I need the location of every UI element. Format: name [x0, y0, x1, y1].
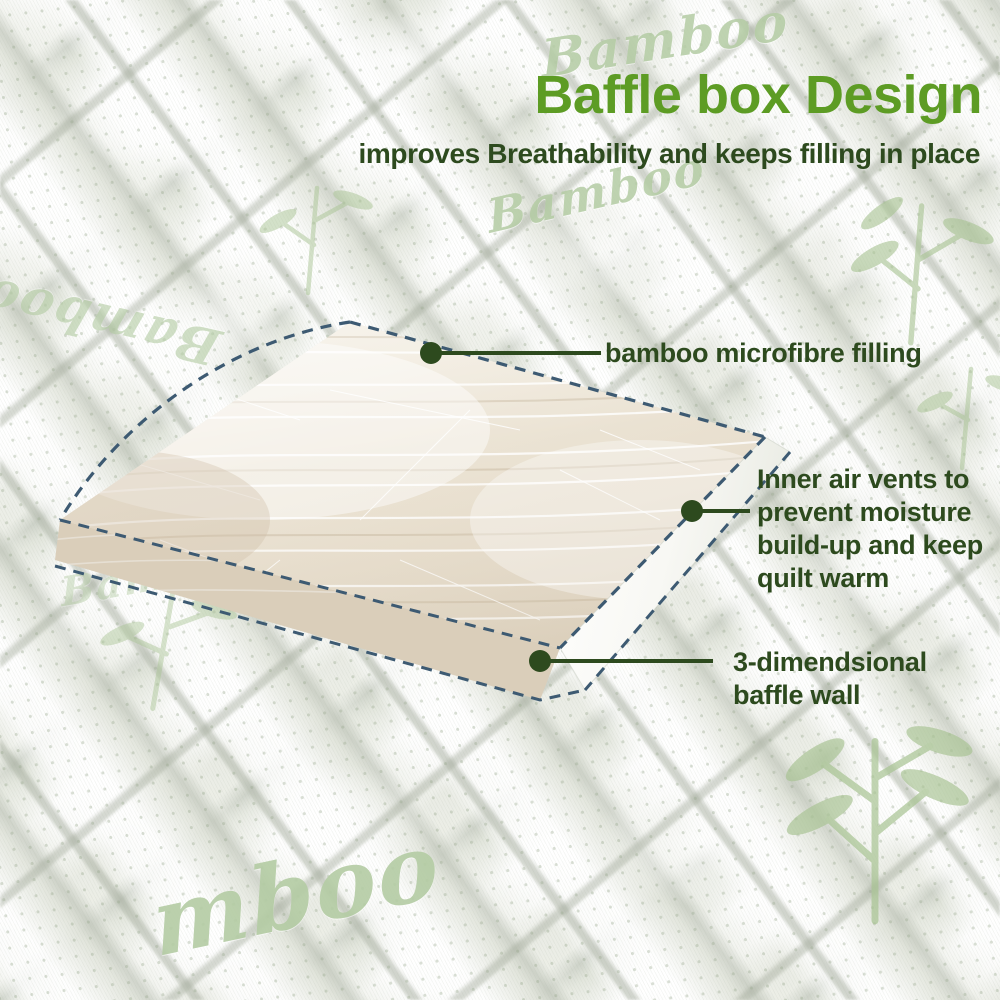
callout-label-bamboo-microfibre-filling: bamboo microfibre filling [605, 337, 922, 370]
page-title: Baffle box Design [0, 66, 982, 124]
bamboo-leaf-icon [760, 700, 990, 930]
bamboo-leaf-icon [828, 170, 1000, 350]
callout-line-inner-air-vents [702, 509, 750, 513]
bamboo-leaf-icon [236, 152, 386, 302]
callout-dot-bamboo-microfibre-filling [420, 342, 442, 364]
callout-label-inner-air-vents: Inner air vents to prevent moisture buil… [757, 463, 983, 595]
product-infographic: Bamboo Bamboo Bamboo mboo Bam [0, 0, 1000, 1000]
callout-line-3-dimensional-baffle-wall [550, 659, 713, 663]
callout-dot-inner-air-vents [681, 500, 703, 522]
callout-line-bamboo-microfibre-filling [441, 351, 601, 355]
callout-dot-3-dimensional-baffle-wall [529, 650, 551, 672]
callout-label-3-dimensional-baffle-wall: 3-dimendsional baffle wall [733, 646, 927, 712]
page-subtitle: improves Breathability and keeps filling… [0, 138, 980, 170]
